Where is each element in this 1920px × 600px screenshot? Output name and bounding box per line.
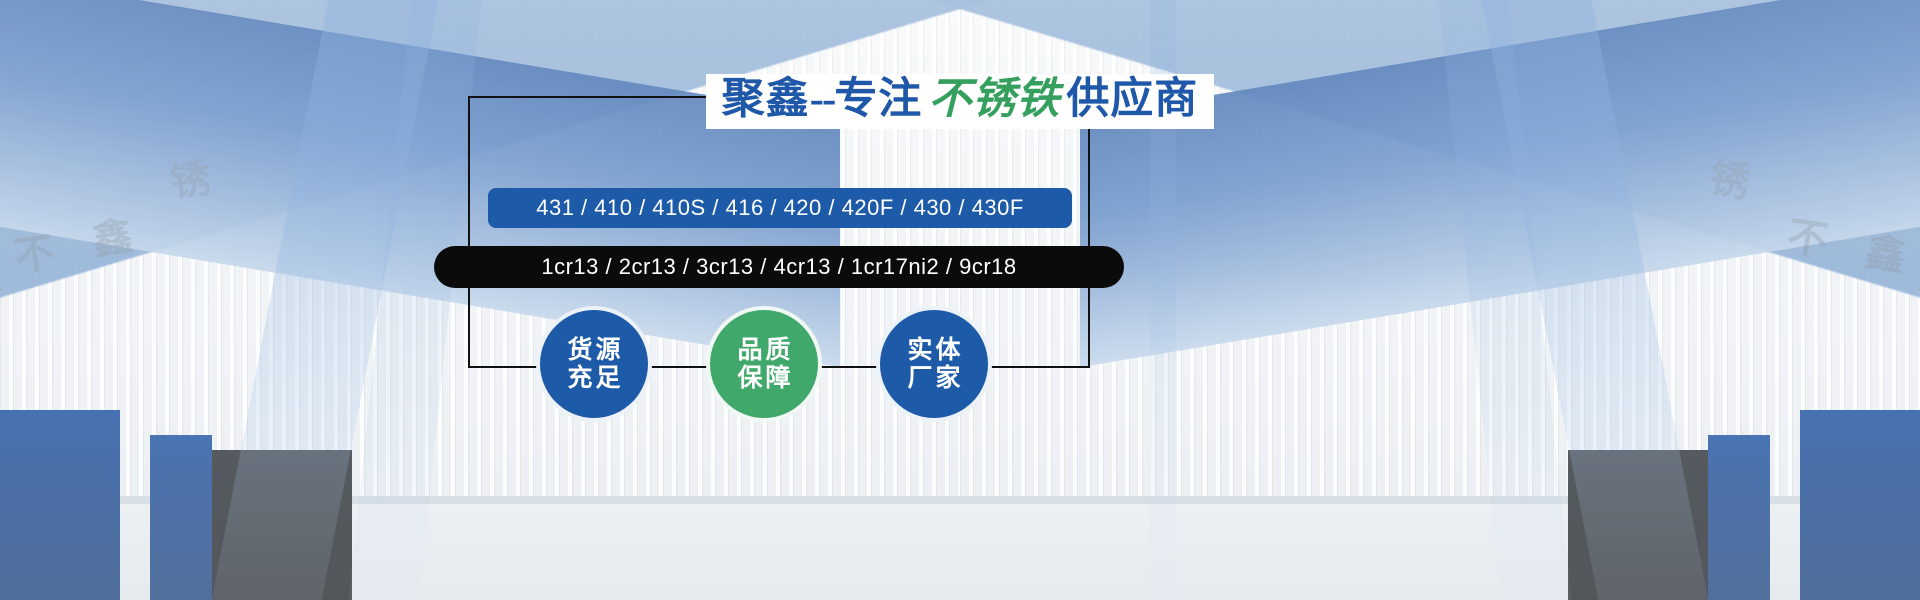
feature-circle-quality-line2: 保障 [734,364,793,392]
feature-circle-supply-line1: 货源 [564,336,623,364]
grade-bar-primary: 431 / 410 / 410S / 416 / 420 / 420F / 43… [488,188,1072,228]
feature-circle-quality: 品质 保障 [706,306,822,422]
headline-highlight: 不锈铁 [922,76,1066,123]
feature-circle-factory-line1: 实体 [904,336,963,364]
feature-circles: 货源 充足 品质 保障 实体 厂家 [0,306,1920,426]
feature-circle-factory-line2: 厂家 [904,364,963,392]
feature-circle-factory: 实体 厂家 [876,306,992,422]
headline-focus: 专注 [834,76,922,123]
hero-banner: 锈 鑫 不 聚 锈 不 鑫 聚 聚鑫--专注不锈铁供应商 431 / 410 /… [0,0,1920,600]
headline: 聚鑫--专注不锈铁供应商 [0,74,1920,129]
headline-brand: 聚鑫 [722,76,810,123]
headline-dash: -- [810,76,835,123]
grade-bar-secondary-text: 1cr13 / 2cr13 / 3cr13 / 4cr13 / 1cr17ni2… [541,254,1016,280]
feature-circle-supply-line2: 充足 [564,364,623,392]
banner-content: 聚鑫--专注不锈铁供应商 431 / 410 / 410S / 416 / 42… [0,0,1920,600]
grade-bar-secondary: 1cr13 / 2cr13 / 3cr13 / 4cr13 / 1cr17ni2… [434,246,1124,288]
grade-bar-primary-text: 431 / 410 / 410S / 416 / 420 / 420F / 43… [536,195,1024,221]
headline-suffix: 供应商 [1066,76,1198,123]
feature-circle-quality-line1: 品质 [734,336,793,364]
feature-circle-supply: 货源 充足 [536,306,652,422]
